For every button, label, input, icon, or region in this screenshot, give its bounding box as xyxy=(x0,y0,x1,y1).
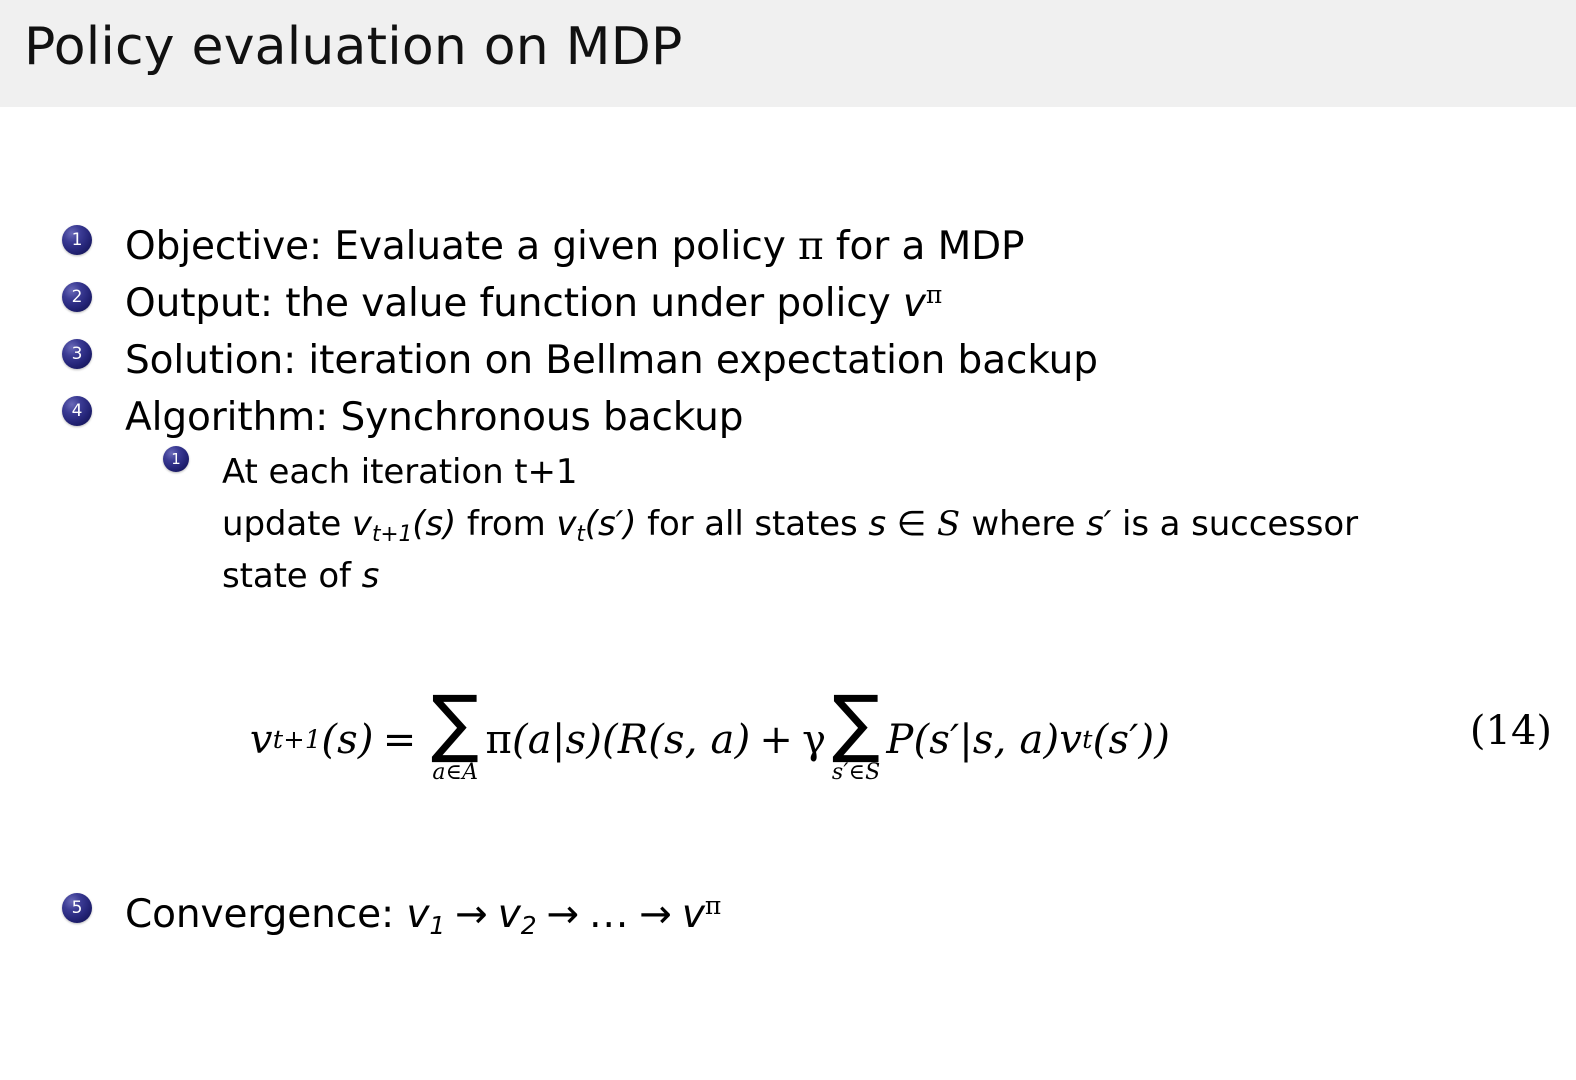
pi-symbol: π xyxy=(798,224,824,269)
equation-number: (14) xyxy=(1470,708,1552,754)
list-item-text: Algorithm: Synchronous backup xyxy=(125,396,743,439)
list-item: 4 Algorithm: Synchronous backup xyxy=(0,396,1576,439)
page-title: Policy evaluation on MDP xyxy=(24,17,683,77)
v2-symbol: v xyxy=(498,892,521,937)
summation-over-next-states: ∑ s′∈S xyxy=(831,695,881,785)
list-item: 5 Convergence: v1→v2→...→vπ xyxy=(0,893,1576,936)
v-pi-symbol: v xyxy=(682,892,705,937)
pi-superscript: π xyxy=(926,280,942,309)
slide-title-bar: Policy evaluation on MDP xyxy=(0,0,1576,107)
element-of-symbol: ∈ xyxy=(886,504,937,544)
v-next-subscript: t+1 xyxy=(372,522,412,547)
successor-label: is a successor xyxy=(1111,504,1358,544)
numbered-bullet-icon: 4 xyxy=(62,396,92,426)
eq-lhs-argument: (s) xyxy=(321,717,373,763)
bullet-list: 1 Objective: Evaluate a given policy π f… xyxy=(0,225,1576,615)
list-item-text: Output: the value function under policy … xyxy=(125,282,942,325)
sub-line-3: state of s xyxy=(222,551,1358,603)
v-t-argument: (s′) xyxy=(585,504,637,544)
v2-subscript: 2 xyxy=(521,911,537,940)
list-item-lead: Objective: Evaluate a given policy xyxy=(125,224,798,269)
sigma-icon: ∑ xyxy=(832,695,880,753)
eq-value-argument: (s′)) xyxy=(1093,717,1170,763)
sigma-icon: ∑ xyxy=(431,695,479,753)
successor-state-symbol: s′ xyxy=(1086,504,1111,544)
summation-over-actions: ∑ a∈A xyxy=(430,695,480,785)
eq-transition-argument: (s′|s, a) xyxy=(913,717,1059,763)
where-label: where xyxy=(961,504,1086,544)
state-space-symbol: S xyxy=(937,504,961,544)
ellipsis: ... xyxy=(589,892,629,937)
v-next-symbol: v xyxy=(352,504,372,544)
sub-bullet-marker-cell: 1 xyxy=(0,446,222,472)
list-item-tail: for a MDP xyxy=(824,224,1025,269)
eq-plus-sign: + xyxy=(750,717,802,763)
bullet-marker-cell: 2 xyxy=(0,282,125,312)
numbered-bullet-icon: 2 xyxy=(62,282,92,312)
list-item-text: Objective: Evaluate a given policy π for… xyxy=(125,225,1024,268)
list-item: 1 Objective: Evaluate a given policy π f… xyxy=(0,225,1576,268)
bullet-marker-cell: 1 xyxy=(0,225,125,255)
list-item-lead: Output: the value function under policy xyxy=(125,281,903,326)
v-pi-superscript: π xyxy=(705,891,721,920)
eq-equals-sign: = xyxy=(374,717,426,763)
eq-transition-P: P xyxy=(886,717,913,763)
sub-line-2: update vt+1(s) from vt(s′) for all state… xyxy=(222,499,1358,551)
right-arrow-icon: → xyxy=(536,892,589,937)
state-of-symbol: s xyxy=(362,556,380,596)
value-function-symbol: v xyxy=(903,281,926,326)
equation-expression: vt+1(s) = ∑ a∈A π(a|s)(R(s, a) + γ ∑ s′∈… xyxy=(250,695,1170,785)
sub-list-item: 1 At each iteration t+1 update vt+1(s) f… xyxy=(0,446,1576,602)
state-of-label: state of xyxy=(222,556,362,596)
display-equation: vt+1(s) = ∑ a∈A π(a|s)(R(s, a) + γ ∑ s′∈… xyxy=(0,695,1420,785)
state-symbol: s xyxy=(868,504,886,544)
eq-discount-gamma: γ xyxy=(802,717,826,763)
display-equation-block: vt+1(s) = ∑ a∈A π(a|s)(R(s, a) + γ ∑ s′∈… xyxy=(0,695,1576,845)
for-all-states-label: for all states xyxy=(636,504,868,544)
numbered-bullet-icon: 3 xyxy=(62,339,92,369)
convergence-label: Convergence: xyxy=(125,892,406,937)
v1-symbol: v xyxy=(406,892,429,937)
v1-subscript: 1 xyxy=(429,911,445,940)
numbered-bullet-icon: 1 xyxy=(62,225,92,255)
numbered-bullet-icon: 5 xyxy=(62,893,92,923)
v-t-symbol: v xyxy=(556,504,576,544)
list-item: 3 Solution: iteration on Bellman expecta… xyxy=(0,339,1576,382)
v-t-subscript: t xyxy=(576,522,584,547)
eq-reward-argument: (s, a) xyxy=(648,717,750,763)
bullet-marker-cell: 5 xyxy=(0,893,125,923)
numbered-subbullet-icon: 1 xyxy=(163,446,189,472)
right-arrow-icon: → xyxy=(629,892,682,937)
eq-reward-R: R xyxy=(618,717,648,763)
right-arrow-icon: → xyxy=(445,892,498,937)
bullet-marker-cell: 4 xyxy=(0,396,125,426)
list-item-text: Solution: iteration on Bellman expectati… xyxy=(125,339,1098,382)
list-item-text: Convergence: v1→v2→...→vπ xyxy=(125,893,721,936)
eq-policy-argument: (a|s)( xyxy=(512,717,618,763)
eq-policy-pi: π xyxy=(485,717,512,763)
eq-value-v: v xyxy=(1059,717,1082,763)
sub-line-1: At each iteration t+1 xyxy=(222,447,1358,499)
slide-content: 1 Objective: Evaluate a given policy π f… xyxy=(0,107,1576,1080)
eq-lhs-v: v xyxy=(250,717,273,763)
from-label: from xyxy=(456,504,556,544)
update-label: update xyxy=(222,504,352,544)
v-next-argument: (s) xyxy=(412,504,456,544)
bullet-marker-cell: 3 xyxy=(0,339,125,369)
list-item: 2 Output: the value function under polic… xyxy=(0,282,1576,325)
sub-list-item-text: At each iteration t+1 update vt+1(s) fro… xyxy=(222,446,1358,602)
